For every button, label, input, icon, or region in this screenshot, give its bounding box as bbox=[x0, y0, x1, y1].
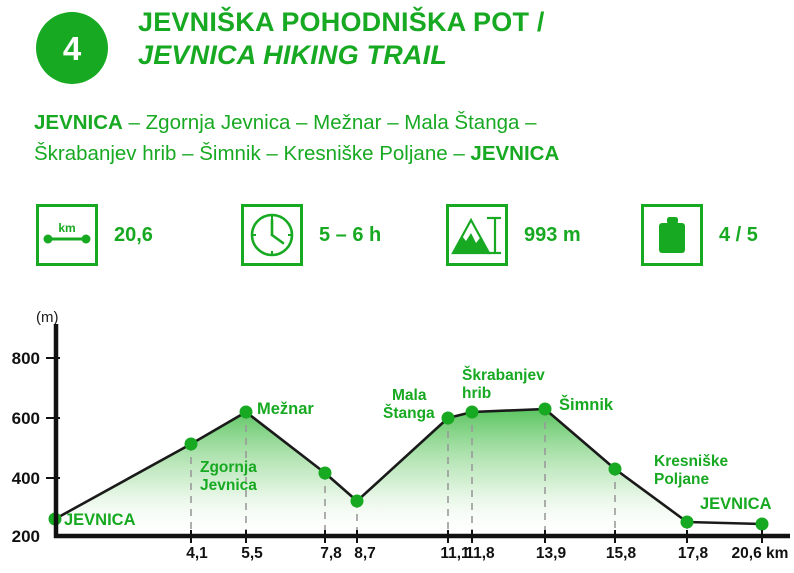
route-middle: – Zgornja Jevnica – Mežnar – Mala Štanga… bbox=[123, 111, 537, 134]
x-tick-15-8: 15,8 bbox=[606, 545, 636, 563]
elevation-icon bbox=[446, 204, 508, 266]
x-tick-7-8: 7,8 bbox=[320, 545, 342, 563]
header: 4 JEVNIŠKA POHODNIŠKA POT / JEVNICA HIKI… bbox=[0, 0, 794, 96]
stat-difficulty: 4 / 5 bbox=[641, 200, 758, 270]
stat-distance-value: 20,6 bbox=[114, 224, 153, 247]
y-tick-600: 600 bbox=[0, 409, 40, 429]
x-tick-5-5: 5,5 bbox=[241, 545, 263, 563]
y-axis-unit-label: (m) bbox=[36, 309, 59, 326]
stat-duration: 5 – 6 h bbox=[241, 200, 381, 270]
x-tick-11-8: 11,8 bbox=[465, 545, 494, 563]
point-label-kresniske-poljane-2: Poljane bbox=[654, 471, 709, 488]
stat-difficulty-value: 4 / 5 bbox=[719, 224, 758, 247]
elevation-chart-svg bbox=[0, 300, 794, 573]
poster-root: 4 JEVNIŠKA POHODNIŠKA POT / JEVNICA HIKI… bbox=[0, 0, 794, 573]
distance-icon: km bbox=[36, 204, 98, 266]
point-label-zgornja-jevnica-1: Zgornja bbox=[200, 459, 257, 476]
page-title: JEVNIŠKA POHODNIŠKA POT / bbox=[138, 6, 778, 39]
title-block: JEVNIŠKA POHODNIŠKA POT / JEVNICA HIKING… bbox=[138, 6, 778, 72]
y-tick-800: 800 bbox=[0, 349, 40, 369]
stat-elevation-value: 993 m bbox=[524, 224, 581, 247]
point-label-skrabanjev-hrib-1: Škrabanjev bbox=[462, 367, 545, 384]
point-label-mala-stanga-2: Štanga bbox=[383, 405, 435, 422]
point-label-simnik: Šimnik bbox=[559, 396, 613, 414]
route-description: JEVNICA – Zgornja Jevnica – Mežnar – Mal… bbox=[34, 108, 774, 170]
point-label-zgornja-jevnica-2: Jevnica bbox=[200, 477, 257, 494]
trail-number-badge: 4 bbox=[36, 12, 108, 84]
y-tick-400: 400 bbox=[0, 469, 40, 489]
x-tick-20-6: 20,6 km bbox=[732, 545, 789, 563]
stats-row: km 20,6 5 – 6 h bbox=[36, 200, 776, 270]
x-tick-17-8: 17,8 bbox=[678, 545, 708, 563]
route-start: JEVNICA bbox=[34, 111, 123, 134]
point-label-kresniske-poljane-1: Kresniške bbox=[654, 453, 728, 470]
clock-icon bbox=[241, 204, 303, 266]
x-tick-8-7: 8,7 bbox=[354, 545, 376, 563]
svg-text:km: km bbox=[58, 221, 75, 235]
x-tick-4-1: 4,1 bbox=[186, 545, 208, 563]
point-label-skrabanjev-hrib-2: hrib bbox=[462, 385, 491, 402]
page-subtitle: JEVNICA HIKING TRAIL bbox=[138, 39, 778, 72]
point-label-jevnica-start: JEVNICA bbox=[64, 511, 136, 529]
stat-elevation: 993 m bbox=[446, 200, 581, 270]
stat-duration-value: 5 – 6 h bbox=[319, 224, 381, 247]
x-tick-13-9: 13,9 bbox=[536, 545, 566, 563]
stat-distance: km 20,6 bbox=[36, 200, 153, 270]
elevation-chart bbox=[0, 300, 794, 573]
y-tick-200: 200 bbox=[0, 527, 40, 547]
point-label-meznar: Mežnar bbox=[257, 400, 314, 418]
difficulty-backpack-icon bbox=[641, 204, 703, 266]
route-end: JEVNICA bbox=[470, 142, 559, 165]
route-line2: Škrabanjev hrib – Šimnik – Kresniške Pol… bbox=[34, 142, 470, 165]
point-label-jevnica-end: JEVNICA bbox=[700, 495, 772, 513]
point-label-mala-stanga-1: Mala bbox=[392, 387, 426, 404]
